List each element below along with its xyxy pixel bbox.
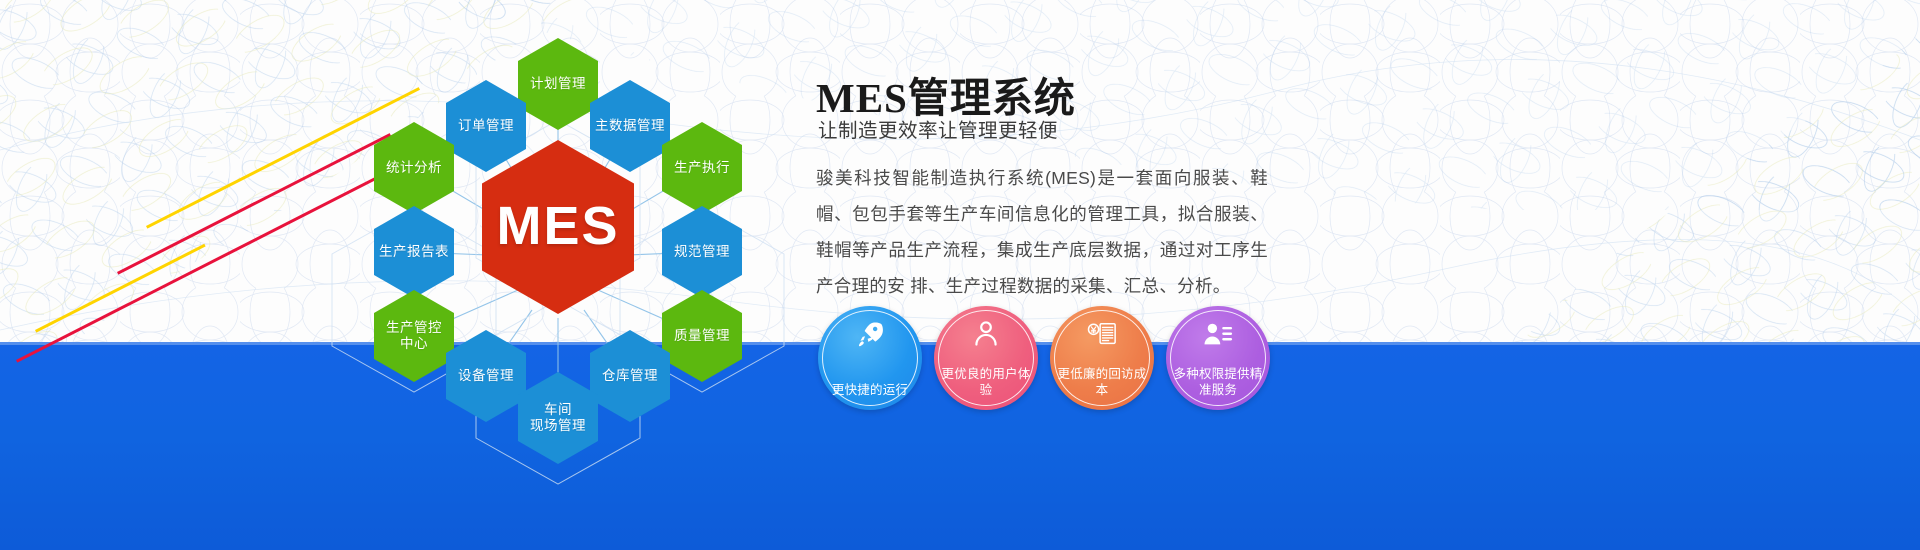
description-paragraph: 骏美科技智能制造执行系统(MES)是一套面向服装、鞋帽、包包手套等生产车间信息化…	[816, 160, 1268, 304]
user-card-icon	[1203, 319, 1233, 349]
hex-label: 规范管理	[670, 244, 734, 260]
feature-badge-faster-operation[interactable]: 更快捷的运行	[818, 306, 922, 410]
hex-label: 生产报告表	[375, 244, 453, 260]
mes-hexagon-diagram: MES 计划管理 订单管理 主数据管理 统计分析 生产执行 生产报告表 规范管理…	[0, 0, 800, 550]
user-icon	[971, 319, 1001, 349]
feature-badge-better-experience[interactable]: 更优良的用户体验	[934, 306, 1038, 410]
hex-label: 生产执行	[670, 160, 734, 176]
hex-label: 车间现场管理	[526, 402, 590, 434]
badge-label: 更低廉的回访成本	[1056, 366, 1148, 398]
rocket-icon	[855, 319, 885, 349]
page-subtitle: 让制造更效率让管理更轻便	[818, 114, 1058, 143]
banner-content: MES管理系统 让制造更效率让管理更轻便 骏美科技智能制造执行系统(MES)是一…	[816, 0, 1336, 550]
banner-stage: MES 计划管理 订单管理 主数据管理 统计分析 生产执行 生产报告表 规范管理…	[0, 0, 1920, 550]
hex-label: 主数据管理	[591, 118, 669, 134]
badge-label: 更优良的用户体验	[940, 366, 1032, 398]
hex-label: 生产管控中心	[382, 320, 446, 352]
badge-label: 多种权限提供精准服务	[1172, 366, 1264, 398]
feature-badge-row: 更快捷的运行 更优良的用户体验	[818, 306, 1338, 416]
badge-label: 更快捷的运行	[824, 382, 916, 398]
hex-label: 质量管理	[670, 328, 734, 344]
hex-label: 仓库管理	[598, 368, 662, 384]
feature-badge-permissions[interactable]: 多种权限提供精准服务	[1166, 306, 1270, 410]
hex-label: 设备管理	[454, 368, 518, 384]
feature-badge-lower-cost[interactable]: 更低廉的回访成本	[1050, 306, 1154, 410]
hex-center-label: MES	[492, 195, 623, 259]
hex-label: 订单管理	[454, 118, 518, 134]
hex-label: 统计分析	[382, 160, 446, 176]
hex-label: 计划管理	[526, 76, 590, 92]
money-icon	[1087, 319, 1117, 349]
